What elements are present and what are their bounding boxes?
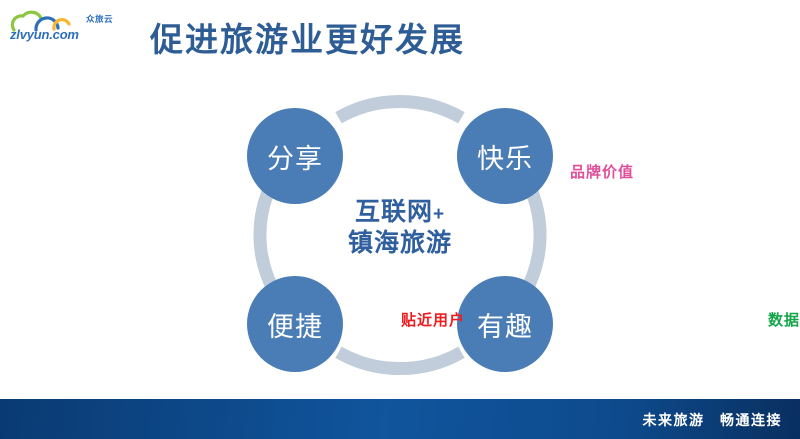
label-data-operations: 数据运营: [768, 309, 800, 330]
node-happy[interactable]: 快乐: [457, 108, 553, 204]
node-interesting[interactable]: 有趣: [457, 276, 553, 372]
node-interesting-label: 有趣: [477, 305, 533, 344]
logo-domain-text: zlvyun.com: [10, 27, 79, 42]
center-line-one: 互联网+: [315, 197, 485, 228]
slide-canvas: 众旅云 zlvyun.com 促进旅游业更好发展 分享 快乐 便捷 有趣: [0, 0, 800, 439]
footer-slogan: 未来旅游 畅通连接: [643, 410, 783, 430]
label-close-to-users: 贴近用户: [401, 309, 465, 330]
ring-arc-bottom: [339, 352, 462, 368]
center-text-plus: +: [433, 204, 445, 225]
node-share-label: 分享: [267, 137, 323, 176]
center-text-internet: 互联网: [355, 198, 433, 226]
center-line-two: 镇海旅游: [315, 228, 485, 259]
cycle-diagram: 分享 快乐 便捷 有趣 互联网+ 镇海旅游 品牌价值 数据运营 贴近用户 提升消…: [225, 85, 575, 385]
label-brand-value: 品牌价值: [570, 161, 634, 182]
brand-logo: 众旅云 zlvyun.com: [8, 8, 128, 50]
node-happy-label: 快乐: [477, 137, 533, 176]
logo-chinese-name: 众旅云: [86, 13, 113, 25]
footer-bar: 未来旅游 畅通连接: [0, 399, 800, 439]
ring-arc-top: [339, 101, 462, 117]
diagram-center-text: 互联网+ 镇海旅游: [315, 197, 485, 258]
node-convenient-label: 便捷: [267, 305, 323, 344]
node-convenient[interactable]: 便捷: [247, 276, 343, 372]
node-share[interactable]: 分享: [247, 108, 343, 204]
page-title: 促进旅游业更好发展: [150, 13, 465, 61]
